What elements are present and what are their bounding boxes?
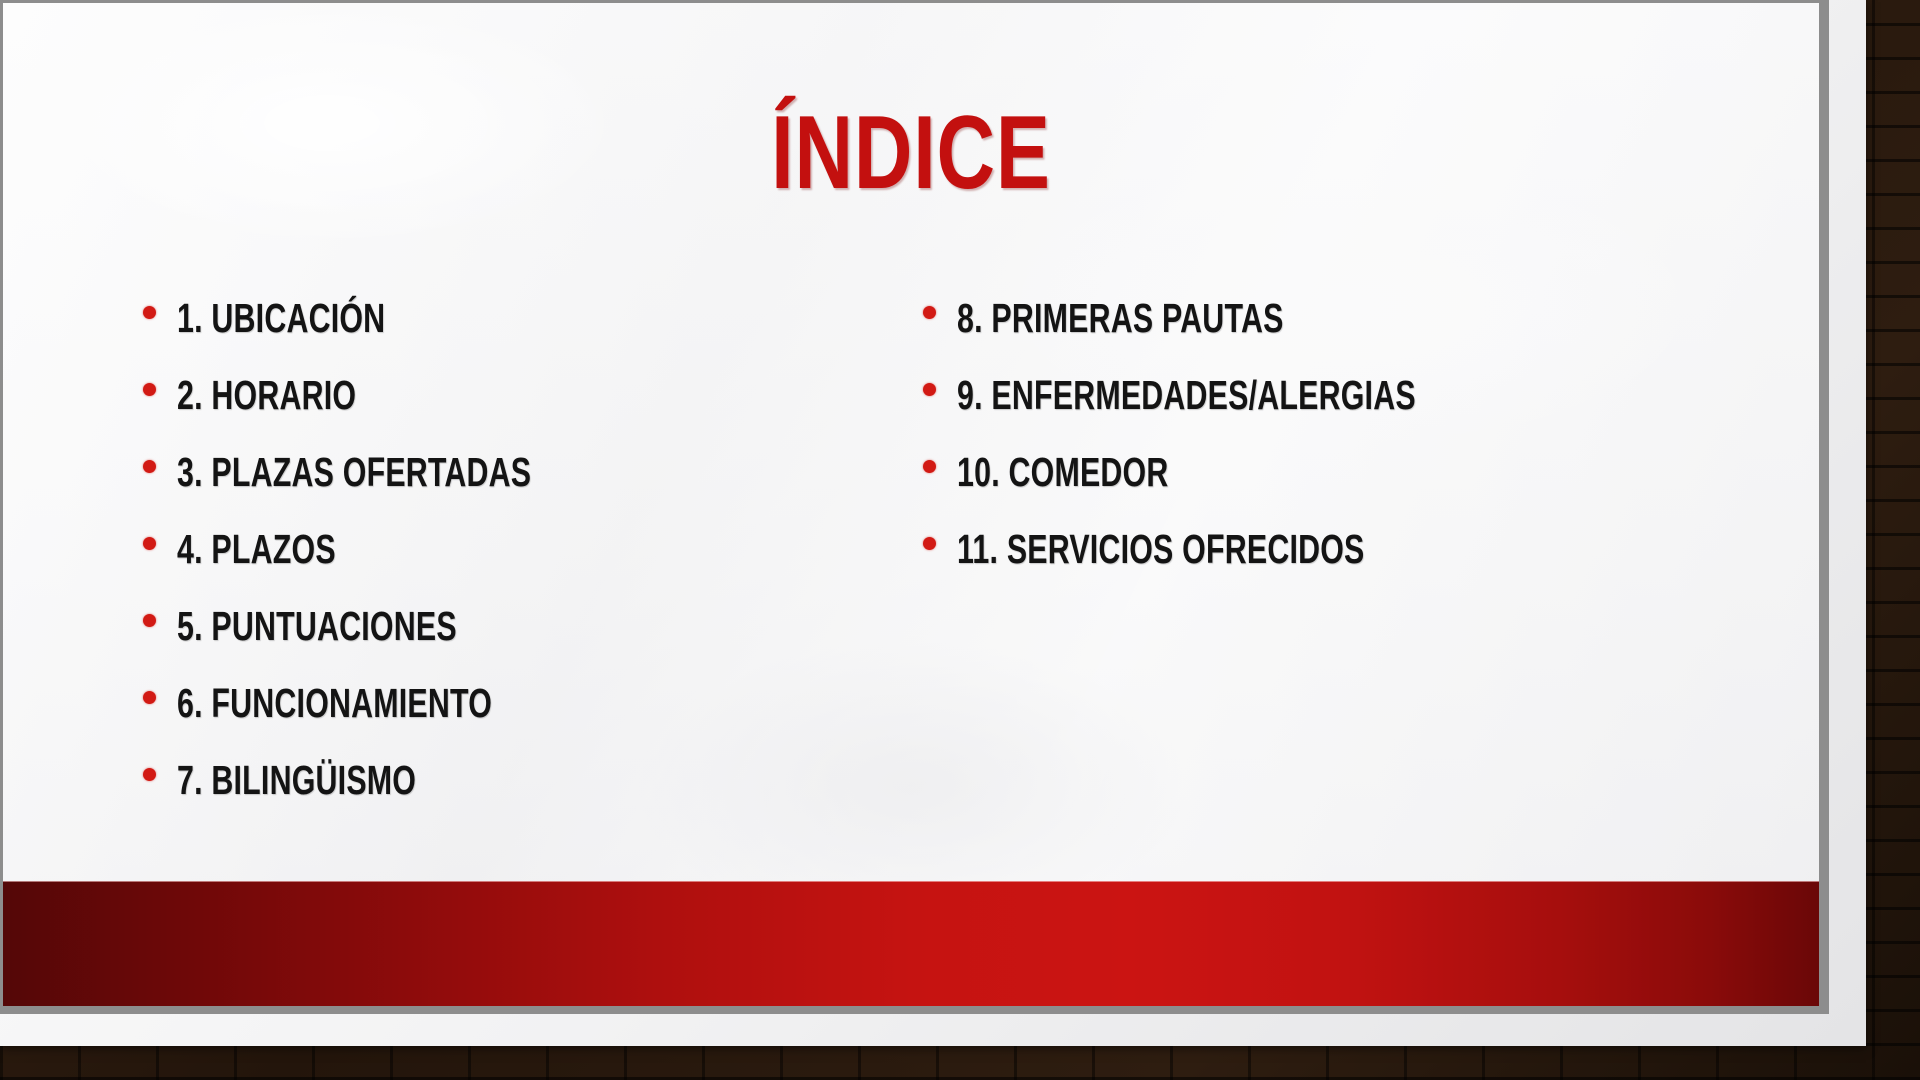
- red-dot-bullet-icon: [143, 614, 156, 627]
- slide-outer-frame: ÍNDICE 1. UBICACIÓN 2. HORARIO 3. PLAZAS…: [0, 0, 1866, 1046]
- red-dot-bullet-icon: [923, 537, 936, 550]
- page-title: ÍNDICE: [203, 101, 1619, 205]
- list-item[interactable]: 10. COMEDOR: [923, 447, 1743, 499]
- list-item-label: 3. PLAZAS OFERTADAS: [177, 447, 531, 497]
- list-item-label: 1. UBICACIÓN: [177, 293, 385, 343]
- list-item[interactable]: 3. PLAZAS OFERTADAS: [143, 447, 903, 499]
- list-item-label: 9. ENFERMEDADES/ALERGIAS: [957, 370, 1416, 420]
- red-dot-bullet-icon: [143, 383, 156, 396]
- toc-column-right: 8. PRIMERAS PAUTAS 9. ENFERMEDADES/ALERG…: [923, 293, 1743, 601]
- red-dot-bullet-icon: [923, 383, 936, 396]
- red-dot-bullet-icon: [923, 306, 936, 319]
- list-item-label: 6. FUNCIONAMIENTO: [177, 678, 492, 728]
- list-item[interactable]: 7. BILINGÜISMO: [143, 755, 903, 807]
- list-item[interactable]: 6. FUNCIONAMIENTO: [143, 678, 903, 730]
- list-item-label: 5. PUNTUACIONES: [177, 601, 457, 651]
- toc-columns: 1. UBICACIÓN 2. HORARIO 3. PLAZAS OFERTA…: [3, 293, 1819, 873]
- list-item[interactable]: 4. PLAZOS: [143, 524, 903, 576]
- footer-red-band: [3, 881, 1819, 1006]
- slide-canvas: ÍNDICE 1. UBICACIÓN 2. HORARIO 3. PLAZAS…: [3, 3, 1819, 1006]
- toc-column-left: 1. UBICACIÓN 2. HORARIO 3. PLAZAS OFERTA…: [143, 293, 903, 832]
- slide-inner-border: ÍNDICE 1. UBICACIÓN 2. HORARIO 3. PLAZAS…: [0, 0, 1829, 1014]
- red-dot-bullet-icon: [143, 537, 156, 550]
- list-item-label: 4. PLAZOS: [177, 524, 336, 574]
- list-item-label: 7. BILINGÜISMO: [177, 755, 416, 805]
- red-dot-bullet-icon: [923, 460, 936, 473]
- list-item[interactable]: 2. HORARIO: [143, 370, 903, 422]
- list-item[interactable]: 5. PUNTUACIONES: [143, 601, 903, 653]
- list-item[interactable]: 1. UBICACIÓN: [143, 293, 903, 345]
- red-dot-bullet-icon: [143, 691, 156, 704]
- red-dot-bullet-icon: [143, 460, 156, 473]
- red-dot-bullet-icon: [143, 768, 156, 781]
- list-item-label: 11. SERVICIOS OFRECIDOS: [957, 524, 1365, 574]
- list-item[interactable]: 9. ENFERMEDADES/ALERGIAS: [923, 370, 1743, 422]
- list-item-label: 10. COMEDOR: [957, 447, 1168, 497]
- list-item[interactable]: 11. SERVICIOS OFRECIDOS: [923, 524, 1743, 576]
- list-item[interactable]: 8. PRIMERAS PAUTAS: [923, 293, 1743, 345]
- list-item-label: 2. HORARIO: [177, 370, 356, 420]
- list-item-label: 8. PRIMERAS PAUTAS: [957, 293, 1284, 343]
- red-dot-bullet-icon: [143, 306, 156, 319]
